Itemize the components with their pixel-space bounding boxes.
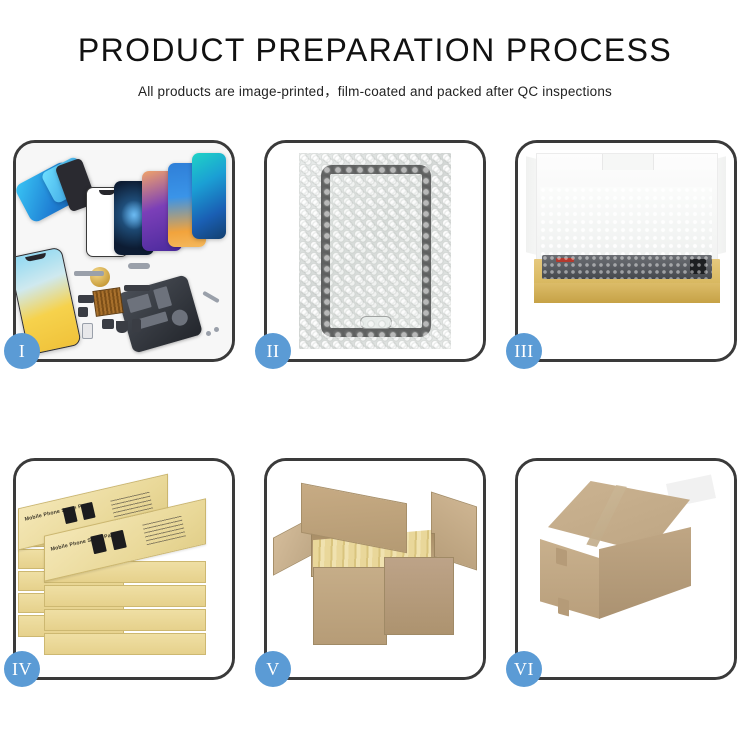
part-connector bbox=[78, 295, 94, 303]
phone-teal-gradient bbox=[192, 153, 226, 239]
step-image-4: Mobile Phone Spare Parts Mobile Phone Sp… bbox=[16, 461, 232, 677]
box-stack: Mobile Phone Spare Parts Mobile Phone Sp… bbox=[16, 461, 232, 677]
step-panel-5: V bbox=[264, 458, 486, 680]
product-red-marking bbox=[556, 258, 574, 262]
notch-shape bbox=[25, 253, 46, 262]
step-panel-4: Mobile Phone Spare Parts Mobile Phone Sp… bbox=[13, 458, 235, 680]
step-badge-4: IV bbox=[4, 651, 40, 687]
part-strip bbox=[74, 271, 104, 276]
part-speaker bbox=[116, 321, 128, 333]
carton-left-face bbox=[540, 539, 600, 619]
part-chip bbox=[78, 307, 88, 317]
part-screwdriver bbox=[202, 291, 220, 303]
step-badge-6: VI bbox=[506, 651, 542, 687]
part-battery bbox=[132, 319, 141, 332]
box-front-panel bbox=[534, 283, 720, 303]
step-badge-5: V bbox=[255, 651, 291, 687]
stacked-box bbox=[44, 585, 206, 607]
step-badge-3: III bbox=[506, 333, 542, 369]
page-title: PRODUCT PREPARATION PROCESS bbox=[0, 34, 750, 68]
bubble-wrap-sheet bbox=[299, 153, 451, 349]
step-panel-3: III bbox=[515, 140, 737, 362]
stacked-box bbox=[44, 609, 206, 631]
part-flex-strip bbox=[124, 285, 150, 291]
steps-grid: I II bbox=[13, 140, 737, 680]
step-image-3 bbox=[518, 143, 734, 359]
chip-grid bbox=[92, 287, 123, 317]
product-connector bbox=[690, 259, 706, 274]
part-flex-cable bbox=[128, 263, 150, 269]
step-panel-2: II bbox=[264, 140, 486, 362]
step-badge-1: I bbox=[4, 333, 40, 369]
step-image-6 bbox=[518, 461, 734, 677]
header: PRODUCT PREPARATION PROCESS All products… bbox=[0, 0, 750, 100]
step-badge-2: II bbox=[255, 333, 291, 369]
part-screw bbox=[214, 327, 219, 332]
packed-product bbox=[542, 255, 712, 279]
carton-body-left bbox=[313, 567, 387, 645]
carton-handle-tab bbox=[558, 597, 569, 616]
foam-padding bbox=[540, 187, 712, 263]
notch-shape bbox=[99, 190, 115, 195]
product-preparation-infographic: PRODUCT PREPARATION PROCESS All products… bbox=[0, 0, 750, 750]
camera-module bbox=[90, 267, 110, 287]
step-image-2 bbox=[267, 143, 483, 359]
part-sim-tray bbox=[82, 323, 93, 339]
step-image-1 bbox=[16, 143, 232, 359]
page-subtitle: All products are image-printed，film-coat… bbox=[0, 80, 750, 100]
part-screw bbox=[206, 331, 211, 336]
carton-handle-tab bbox=[556, 547, 567, 566]
step-image-5 bbox=[267, 461, 483, 677]
part-button bbox=[102, 319, 114, 329]
step-panel-6: VI bbox=[515, 458, 737, 680]
bubble-wrap-overlay bbox=[299, 153, 451, 349]
stacked-box bbox=[44, 633, 206, 655]
step-panel-1: I bbox=[13, 140, 235, 362]
carton-body-right bbox=[384, 557, 454, 635]
